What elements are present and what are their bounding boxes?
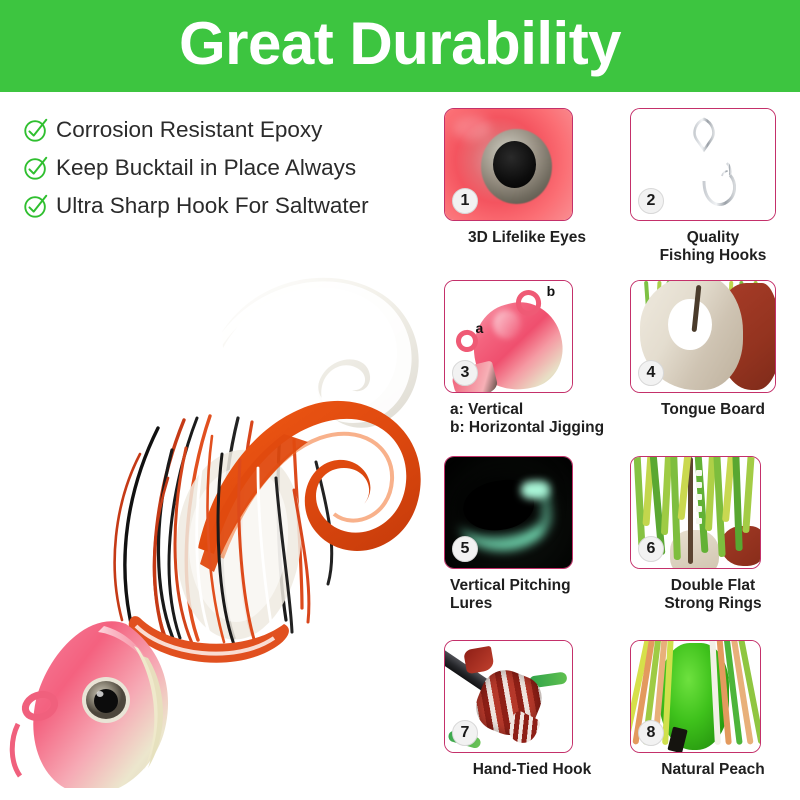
feature-label: Keep Bucktail in Place Always [56,157,356,180]
product-image: Pink and white jig head with red, black … [8,228,438,788]
feature-panel-2[interactable]: 2 Quality Fishing Hooks [630,108,796,265]
feature-panel-6[interactable]: 6 Double Flat Strong Rings [630,456,796,613]
caption-line: Quality [630,229,796,247]
caption-line: Hand-Tied Hook [454,761,610,779]
panel-caption: 3D Lifelike Eyes [444,229,610,247]
feature-panel-grid: 1 3D Lifelike Eyes [444,108,796,790]
check-circle-icon [22,116,50,144]
caption-line: a: Vertical [450,401,610,419]
feature-panel-8[interactable]: 8 Natural Peach [630,640,796,779]
panel-number-badge: 4 [638,360,664,386]
caption-line: Strong Rings [630,595,796,613]
panel-caption: Natural Peach [630,761,796,779]
check-circle-icon [22,192,50,220]
feature-panel-4[interactable]: 4 Tongue Board [630,280,796,419]
panel-number-badge: 8 [638,720,664,746]
check-circle-icon [22,154,50,182]
tongue-board-hole [668,299,711,350]
panel-number-badge: 6 [638,536,664,562]
panel-caption: Vertical Pitching Lures [444,577,610,613]
header-banner: Great Durability [0,0,800,92]
panel-number-badge: 3 [452,360,478,386]
feature-item: Corrosion Resistant Epoxy [22,112,442,148]
caption-line: Lures [450,595,610,613]
fishing-hook-photo[interactable]: 2 [630,108,776,221]
caption-line: Natural Peach [630,761,796,779]
panel-caption: Double Flat Strong Rings [630,577,796,613]
eye-highlight [453,116,491,140]
eye-pupil [493,141,536,188]
caption-line: Double Flat [630,577,796,595]
caption-line: Fishing Hooks [630,247,796,265]
panel-number-badge: 7 [452,720,478,746]
jig-head-rings-photo[interactable]: b a 3 [444,280,573,393]
feature-label: Ultra Sharp Hook For Saltwater [56,195,369,218]
feature-label: Corrosion Resistant Epoxy [56,119,322,142]
3d-lifelike-eye-photo[interactable]: 1 [444,108,573,221]
feature-panel-1[interactable]: 1 3D Lifelike Eyes [444,108,610,247]
product-infographic-page: Great Durability Corrosion Resistant Epo… [0,0,800,800]
fishing-jig-lure-illustration [8,228,438,788]
green-skirt-rings-photo[interactable]: 6 [630,456,761,569]
caption-line: Vertical Pitching [450,577,610,595]
skirt-white-dots [696,470,703,519]
tongue-board-photo[interactable]: 4 [630,280,776,393]
feature-panel-7[interactable]: 7 Hand-Tied Hook [444,640,610,779]
panel-caption: Tongue Board [630,401,796,419]
panel-caption: Hand-Tied Hook [444,761,610,779]
feature-item: Ultra Sharp Hook For Saltwater [22,188,442,224]
panel-number-badge: 5 [452,536,478,562]
feature-panel-5[interactable]: 5 Vertical Pitching Lures [444,456,610,613]
panel-caption: Quality Fishing Hooks [630,229,796,265]
panel-number-badge: 1 [452,188,478,214]
caption-line: b: Horizontal Jigging [450,419,610,437]
page-title: Great Durability [179,14,621,78]
ring-label-b: b [547,283,556,299]
feature-item: Keep Bucktail in Place Always [22,150,442,186]
feature-panel-3[interactable]: b a 3 a: Vertical b: Horizontal Jigging [444,280,610,437]
glow-tip [521,481,549,499]
hand-tied-hook-photo[interactable]: 7 [444,640,573,753]
caption-line: Tongue Board [630,401,796,419]
panel-number-badge: 2 [638,188,664,214]
thread-flag [463,645,495,674]
caption-line: 3D Lifelike Eyes [444,229,610,247]
feature-list: Corrosion Resistant Epoxy Keep Bucktail … [22,112,442,226]
panel-caption: a: Vertical b: Horizontal Jigging [444,401,610,437]
ring-label-a: a [475,320,483,336]
natural-peach-skirt-photo[interactable]: 8 [630,640,761,753]
glow-in-dark-lure-photo[interactable]: 5 [444,456,573,569]
